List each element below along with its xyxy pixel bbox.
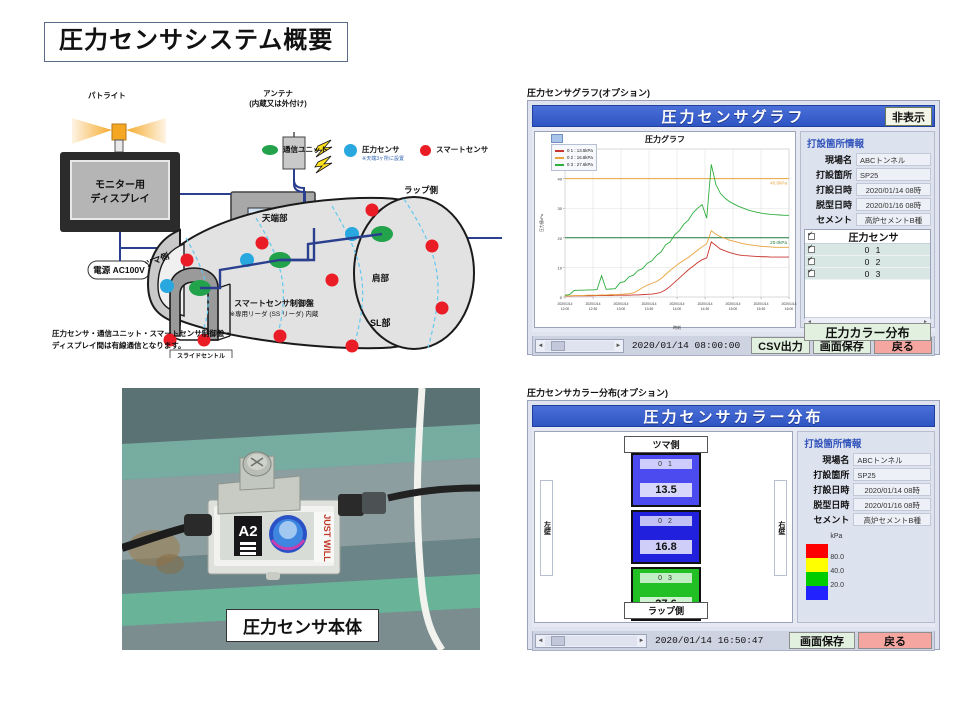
sensor-cell-01[interactable]: 0 1 13.5 — [631, 453, 701, 507]
info-row-location: 打設箇所 SP25 — [801, 468, 931, 481]
svg-text:40: 40 — [558, 177, 563, 182]
svg-text:2020/1/14: 2020/1/14 — [781, 302, 796, 306]
legend-drag-handle[interactable] — [551, 134, 563, 143]
info-label: 打設日時 — [804, 183, 856, 196]
color-title-bar: 圧力センサカラー分布 — [532, 405, 935, 427]
system-diagram: パトライト アンテナ (内蔵又は外付け) モニター用 ディスプレイ 電源 AC1… — [52, 88, 502, 358]
svg-text:10: 10 — [558, 265, 563, 270]
color-distribution-button[interactable]: 圧力カラー分布 — [804, 323, 931, 341]
pressure-sensor-dot-icon — [344, 144, 357, 157]
svg-text:12:00: 12:00 — [561, 307, 570, 311]
info-label: 脱型日時 — [804, 198, 856, 211]
sensor-name: 0 2 — [817, 257, 930, 267]
svg-text:JUST WILL: JUST WILL — [322, 514, 332, 562]
color-distribution-canvas: 左壁 右壁 ツマ側 0 1 13.5 0 2 16.8 0 3 27.6 ラップ… — [534, 431, 793, 623]
lap-side-label: ラップ側 — [624, 602, 708, 619]
legend-label: 0 1 : 13.5kPa — [567, 148, 593, 153]
scale-tick: 80.0 — [830, 551, 844, 565]
time-scrollbar[interactable]: ◄ ► — [535, 634, 647, 648]
tunnel-label-tenba: 天端部 — [262, 212, 288, 224]
info-row-site: 現場名 ABCトンネル — [804, 153, 931, 166]
info-row-placement-date: 打設日時 2020/01/14 08時 — [804, 183, 931, 196]
svg-text:14:00: 14:00 — [673, 307, 682, 311]
pressure-sensor-legend-label: 圧力センサ — [362, 144, 404, 155]
csv-export-button[interactable]: CSV出力 — [751, 337, 810, 354]
sensor-checkbox[interactable] — [805, 270, 817, 277]
sensor-cell-value: 13.5 — [640, 483, 692, 497]
sensor-cell-value: 16.8 — [640, 540, 692, 554]
sensor-list-empty-area — [805, 280, 930, 317]
color-scale-legend: kPa 80.0 40.0 20.0 — [806, 544, 828, 600]
svg-text:2020/1/14: 2020/1/14 — [557, 302, 572, 306]
legend-swatch-icon — [555, 157, 564, 159]
left-wall-label: 左壁 — [540, 480, 553, 576]
pressure-color-distribution-window: 圧力センサカラー分布 左壁 右壁 ツマ側 0 1 13.5 0 2 16.8 0… — [527, 400, 940, 650]
power-label: 電源 AC100V — [88, 264, 150, 276]
svg-text:20: 20 — [558, 236, 563, 241]
sensor-checkbox[interactable] — [805, 246, 817, 253]
info-row-cement: セメント 高炉セメントB種 — [804, 213, 931, 226]
scroll-thumb[interactable] — [551, 636, 565, 646]
sensor-cell-id: 0 3 — [640, 573, 692, 583]
scale-tick-labels: 80.0 40.0 20.0 — [830, 551, 844, 593]
svg-text:15:00: 15:00 — [729, 307, 738, 311]
sensor-list-header: 圧力センサ — [805, 230, 930, 244]
info-row-cement: セメント 高炉セメントB種 — [801, 513, 931, 526]
svg-text:15:30: 15:30 — [757, 307, 766, 311]
scroll-thumb[interactable] — [551, 341, 565, 351]
svg-text:13:00: 13:00 — [617, 307, 626, 311]
monitor-label-line2: ディスプレイ — [72, 190, 168, 205]
select-all-checkbox[interactable] — [805, 233, 817, 240]
save-screen-button[interactable]: 画面保存 — [789, 632, 855, 649]
sensor-cell-02[interactable]: 0 2 16.8 — [631, 510, 701, 564]
scroll-right-icon[interactable]: ► — [614, 343, 623, 349]
info-value: SP25 — [856, 168, 931, 181]
scroll-track[interactable] — [545, 341, 614, 351]
svg-text:13:30: 13:30 — [645, 307, 654, 311]
scroll-track[interactable] — [545, 636, 637, 646]
back-button[interactable]: 戻る — [858, 632, 932, 649]
color-body: 左壁 右壁 ツマ側 0 1 13.5 0 2 16.8 0 3 27.6 ラップ… — [532, 427, 935, 627]
graph-title-bar: 圧力センサグラフ 非表示 — [532, 105, 935, 127]
graph-timestamp: 2020/01/14 08:00:00 — [627, 340, 745, 351]
svg-text:A2: A2 — [238, 523, 257, 540]
info-row-site: 現場名 ABCトンネル — [801, 453, 931, 466]
tunnel-label-sl: SL部 — [370, 316, 391, 329]
svg-text:0: 0 — [560, 295, 563, 300]
sensor-list[interactable]: 圧力センサ 0 1 0 2 0 3 ◄► — [804, 229, 931, 319]
sensor-checkbox[interactable] — [805, 258, 817, 265]
graph-info-panel: 打設箇所情報 現場名 ABCトンネル 打設箇所 SP25 打設日時 2020/0… — [800, 131, 935, 328]
info-value: 2020/01/16 08時 — [856, 198, 931, 211]
chart-plot-area: 010203040502020/1/1412:002020/1/1412:302… — [535, 145, 797, 331]
legend-item: 0 3 : 27.6kPa — [555, 161, 593, 168]
scroll-left-icon[interactable]: ◄ — [536, 638, 545, 644]
info-label: 現場名 — [801, 453, 853, 466]
pressure-sensor-photo-block: A2 JUST WILL 圧力センサ本体 — [122, 388, 480, 650]
color-app-caption: 圧力センサカラー分布(オプション) — [527, 386, 668, 399]
scroll-right-icon[interactable]: ► — [637, 638, 646, 644]
svg-text:2020/1/14: 2020/1/14 — [753, 302, 768, 306]
graph-body: 圧力グラフ 0 1 : 13.5kPa 0 2 : 16.8kPa 0 3 : … — [532, 127, 935, 332]
svg-text:時刻: 時刻 — [673, 324, 681, 330]
diagram-legend-comm: 通信ユニット — [262, 144, 328, 155]
legend-label: 0 3 : 27.6kPa — [567, 162, 593, 167]
legend-item: 0 1 : 13.5kPa — [555, 147, 593, 154]
comm-unit-legend-label: 通信ユニット — [283, 144, 328, 155]
smart-sensor-dot-icon — [420, 145, 431, 156]
pressure-graph-window: 圧力センサグラフ 非表示 圧力グラフ 0 1 : 13.5kPa 0 2 : 1… — [527, 100, 940, 355]
color-info-panel: 打設箇所情報 現場名 ABCトンネル 打設箇所 SP25 打設日時 2020/0… — [797, 431, 935, 623]
tunnel-label-lap: ラップ側 — [404, 184, 438, 196]
color-window-title: 圧力センサカラー分布 — [643, 406, 823, 427]
info-label: 打設箇所 — [804, 168, 856, 181]
svg-text:2020/1/14: 2020/1/14 — [725, 302, 740, 306]
diagram-note-line2: ディスプレイ間は有線通信となります。 — [52, 340, 186, 351]
comm-unit-dot-icon — [262, 145, 278, 155]
smart-sensor-legend-label: スマートセンサ — [436, 144, 488, 155]
info-row-placement-date: 打設日時 2020/01/14 08時 — [801, 483, 931, 496]
svg-text:16:00: 16:00 — [785, 307, 794, 311]
scroll-left-icon[interactable]: ◄ — [536, 343, 545, 349]
sensor-list-item[interactable]: 0 3 — [805, 268, 930, 280]
info-value: ABCトンネル — [856, 153, 931, 166]
svg-text:12:30: 12:30 — [589, 307, 598, 311]
graph-window-title: 圧力センサグラフ — [661, 106, 805, 127]
info-label: 打設箇所 — [801, 468, 853, 481]
info-value: 2020/01/14 08時 — [853, 483, 931, 496]
sensor-name: 0 1 — [817, 245, 930, 255]
legend-label: 0 2 : 16.8kPa — [567, 155, 593, 160]
pressure-sensor-legend-sub: ※天端3ヶ所に設置 — [362, 155, 404, 162]
graph-app-caption: 圧力センサグラフ(オプション) — [527, 86, 650, 99]
chart-legend[interactable]: 0 1 : 13.5kPa 0 2 : 16.8kPa 0 3 : 27.6kP… — [551, 144, 597, 171]
color-footer: ◄ ► 2020/01/14 16:50:47 画面保存 戻る — [532, 631, 935, 651]
svg-text:20.0kPa: 20.0kPa — [770, 240, 787, 245]
info-value: 2020/01/16 08時 — [853, 498, 931, 511]
info-value: SP25 — [853, 468, 931, 481]
info-label: セメント — [801, 513, 853, 526]
legend-swatch-icon — [555, 164, 564, 166]
sensor-list-item[interactable]: 0 1 — [805, 244, 930, 256]
svg-text:30: 30 — [558, 206, 563, 211]
antenna-label-line2: (内蔵又は外付け) — [218, 98, 338, 109]
scale-unit-label: kPa — [830, 533, 842, 540]
diagram-note-line1: 圧力センサ・通信ユニット・スマートセンサ制御盤・ — [52, 328, 232, 339]
diagram-legend-smart: スマートセンサ — [420, 144, 488, 156]
hide-button[interactable]: 非表示 — [885, 107, 932, 126]
info-value: 高炉セメントB種 — [856, 213, 931, 226]
diagram-legend-pressure: 圧力センサ ※天端3ヶ所に設置 — [344, 144, 404, 162]
slide-centle-label: スライドセントル — [170, 351, 232, 360]
info-panel-header: 打設箇所情報 — [804, 436, 931, 450]
pressure-chart: 圧力グラフ 0 1 : 13.5kPa 0 2 : 16.8kPa 0 3 : … — [534, 131, 796, 328]
scale-tick: 20.0 — [830, 579, 844, 593]
svg-text:2020/1/14: 2020/1/14 — [641, 302, 656, 306]
info-value: 2020/01/14 08時 — [856, 183, 931, 196]
svg-text:圧力値kPa: 圧力値kPa — [539, 213, 544, 232]
svg-text:2020/1/14: 2020/1/14 — [613, 302, 628, 306]
info-row-location: 打設箇所 SP25 — [804, 168, 931, 181]
svg-text:2020/1/14: 2020/1/14 — [585, 302, 600, 306]
tsuma-side-label: ツマ側 — [624, 436, 708, 453]
info-value: 高炉セメントB種 — [853, 513, 931, 526]
monitor-label-line1: モニター用 — [72, 176, 168, 191]
info-label: 現場名 — [804, 153, 856, 166]
svg-text:40.0kPa: 40.0kPa — [770, 181, 787, 186]
page-title: 圧力センサシステム概要 — [44, 22, 348, 62]
scale-tick: 40.0 — [830, 565, 844, 579]
info-label: セメント — [804, 213, 856, 226]
sensor-list-item[interactable]: 0 2 — [805, 256, 930, 268]
time-scrollbar[interactable]: ◄ ► — [535, 339, 624, 353]
legend-item: 0 2 : 16.8kPa — [555, 154, 593, 161]
info-row-demold-date: 脱型日時 2020/01/16 08時 — [801, 498, 931, 511]
svg-text:2020/1/14: 2020/1/14 — [697, 302, 712, 306]
legend-swatch-icon — [555, 150, 564, 152]
control-panel-sublabel: ※専用リーダ (SS リーダ) 内蔵 — [204, 308, 344, 318]
sensor-name: 0 3 — [817, 269, 930, 279]
tunnel-label-kata: 肩部 — [372, 272, 389, 284]
svg-text:14:30: 14:30 — [701, 307, 710, 311]
info-panel-header: 打設箇所情報 — [807, 136, 931, 150]
sensor-list-title: 圧力センサ — [817, 229, 930, 244]
svg-text:2020/1/14: 2020/1/14 — [669, 302, 684, 306]
patlite-label: パトライト — [88, 90, 126, 101]
photo-caption: 圧力センサ本体 — [226, 609, 379, 642]
right-wall-label: 右壁 — [774, 480, 787, 576]
scale-color-bar — [806, 544, 828, 600]
sensor-cell-id: 0 2 — [640, 516, 692, 526]
info-label: 打設日時 — [801, 483, 853, 496]
info-row-demold-date: 脱型日時 2020/01/16 08時 — [804, 198, 931, 211]
info-value: ABCトンネル — [853, 453, 931, 466]
sensor-cell-id: 0 1 — [640, 459, 692, 469]
color-timestamp: 2020/01/14 16:50:47 — [650, 635, 768, 646]
info-label: 脱型日時 — [801, 498, 853, 511]
